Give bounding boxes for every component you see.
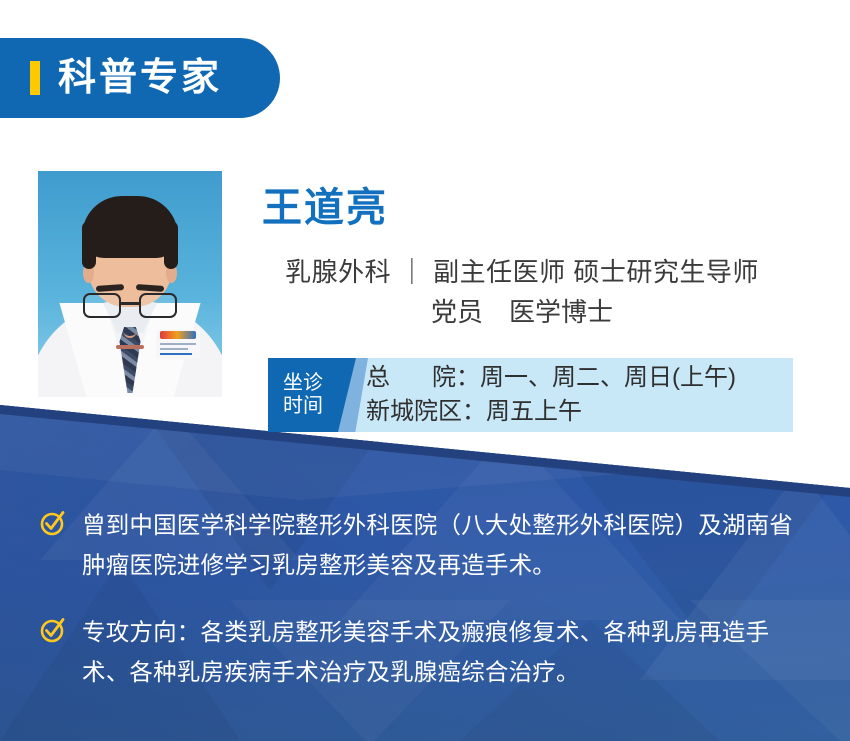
schedule-row: 新城院区：周五上午 [366,395,793,429]
check-circle-icon [40,617,66,643]
list-item: 曾到中国医学科学院整形外科医院（八大处整形外科医院）及湖南省肿瘤医院进修学习乳房… [40,505,810,586]
doctor-credentials: 乳腺外科 ｜ 副主任医师 硕士研究生导师 党员 医学博士 [262,252,782,333]
eyebrow-right [136,284,164,292]
clinic-schedule: 坐诊 时间 总院：周一、周二、周日(上午) 新城院区：周五上午 [268,358,793,432]
doctor-name: 王道亮 [262,186,388,230]
nose [124,323,137,338]
list-item: 专攻方向：各类乳房整形美容手术及瘢痕修复术、各种乳房再造手术、各种乳房疾病手术治… [40,612,810,693]
schedule-row: 总院：周一、周二、周日(上午) [366,361,793,395]
hair-side-right [164,221,178,269]
doctor-photo [38,171,222,397]
credential-line-2: 党员 医学博士 [262,292,782,332]
page-title: 科普专家 [58,59,222,97]
schedule-label: 坐诊 时间 [268,358,338,432]
accent-bar-icon [30,61,40,95]
head [88,205,172,307]
avatar [32,165,228,403]
glasses-bridge [121,302,139,305]
badge-text-line [160,343,196,345]
credential-line-1: 乳腺外科 ｜ 副主任医师 硕士研究生导师 [262,252,782,292]
lens-right [139,293,177,318]
schedule-time: 周一、周二、周日(上午) [480,364,736,391]
highlight-text: 专攻方向：各类乳房整形美容手术及瘢痕修复术、各种乳房再造手术、各种乳房疾病手术治… [82,612,810,693]
glasses-icon [82,293,178,319]
mouth [116,345,144,349]
hospital-badge [156,329,200,359]
lens-left [83,293,121,318]
doctor-profile-card: 科普专家 [0,0,850,741]
schedule-label-line-2: 时间 [283,395,323,418]
highlight-text: 曾到中国医学科学院整形外科医院（八大处整形外科医院）及湖南省肿瘤医院进修学习乳房… [82,505,810,586]
header-banner: 科普专家 [0,38,280,118]
eyebrow-left [96,284,124,292]
schedule-place-tail: 院： [432,364,480,391]
schedule-place: 总 [366,364,390,391]
schedule-place: 新城院区： [366,398,486,425]
hair-side-left [82,221,96,269]
schedule-content: 总院：周一、周二、周日(上午) 新城院区：周五上午 [338,358,793,432]
badge-logo [160,331,196,339]
badge-text-line [160,348,188,350]
highlights-list: 曾到中国医学科学院整形外科医院（八大处整形外科医院）及湖南省肿瘤医院进修学习乳房… [40,505,810,719]
badge-text-line [160,353,192,355]
schedule-label-line-1: 坐诊 [283,372,323,395]
schedule-time: 周五上午 [486,398,582,425]
check-circle-icon [40,510,66,536]
